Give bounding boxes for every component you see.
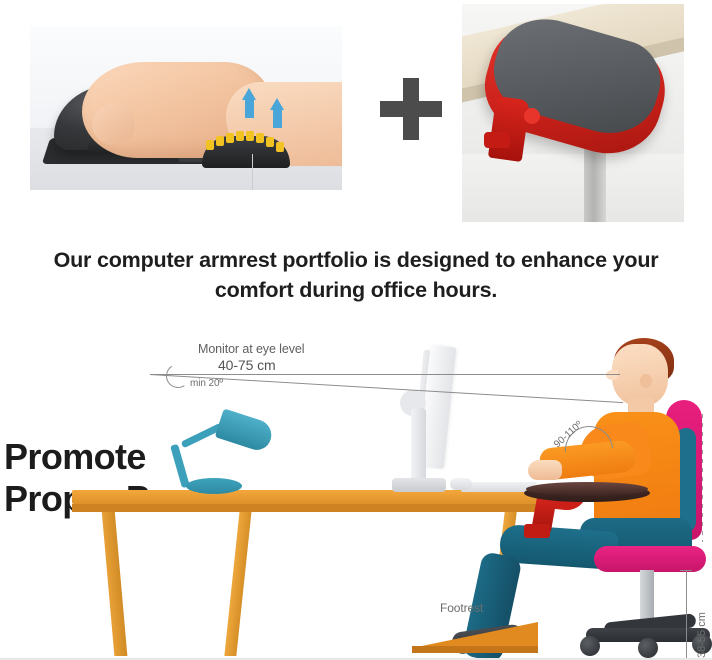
- adjust-knob-icon: [524, 108, 540, 124]
- person-nose-icon: [606, 370, 618, 380]
- seat-height-line: [686, 570, 687, 660]
- seat-height-label: 38-55 cm: [696, 612, 708, 658]
- armrest-clamp-icon: [524, 524, 550, 538]
- lamp-base-icon: [186, 478, 242, 494]
- desk-clamp-icon: [488, 96, 530, 162]
- desk-top-icon: [72, 490, 550, 504]
- backrest-dashed-guide: [702, 414, 703, 542]
- armrest-cushion-icon: [526, 482, 648, 496]
- chair-seat-icon: [594, 546, 706, 572]
- desk-leg-icon: [102, 510, 128, 656]
- mouse-icon: [450, 478, 472, 490]
- person-hand-icon: [528, 460, 562, 480]
- footrest-edge-icon: [412, 646, 538, 653]
- support-dots-icon: [206, 130, 290, 152]
- seat-height-tick-top: [680, 570, 692, 571]
- tagline-line-1: Our computer armrest portfolio is design…: [54, 248, 659, 272]
- photo-background-wall: [462, 154, 684, 222]
- footrest-label: Footrest: [440, 601, 483, 615]
- product-photo-mouse-wrist-rest: [30, 26, 342, 190]
- monitor-base-icon: [392, 478, 446, 492]
- person-head-icon: [612, 344, 668, 406]
- view-angle-label: min 20º: [190, 378, 223, 389]
- eye-level-line: [150, 374, 620, 375]
- monitor-eye-level-label: Monitor at eye level: [198, 342, 304, 356]
- up-arrow-icon: [242, 88, 256, 118]
- view-angle-arc: [164, 362, 192, 390]
- photo-seam-line: [252, 154, 253, 190]
- tagline: Our computer armrest portfolio is design…: [0, 246, 712, 305]
- chair-wheel-icon: [638, 638, 658, 658]
- ergonomic-posture-diagram: Promote Proper Posture: [0, 332, 712, 660]
- monitor-stem-icon: [411, 408, 426, 482]
- desk-edge-icon: [72, 504, 550, 512]
- tagline-line-2: comfort during office hours.: [215, 278, 497, 302]
- chair-wheel-icon: [580, 636, 600, 656]
- up-arrow-icon: [270, 98, 284, 128]
- infographic-page: Our computer armrest portfolio is design…: [0, 0, 712, 660]
- plus-icon: [380, 78, 442, 140]
- product-photo-armrest-clamp: [462, 4, 684, 222]
- heading-line-1: Promote: [4, 436, 146, 477]
- desk-leg-icon: [224, 510, 251, 656]
- product-photo-band: [0, 0, 712, 236]
- person-ear-icon: [640, 374, 652, 388]
- monitor-distance-label: 40-75 cm: [218, 357, 276, 373]
- clamp-arm-icon: [484, 132, 510, 148]
